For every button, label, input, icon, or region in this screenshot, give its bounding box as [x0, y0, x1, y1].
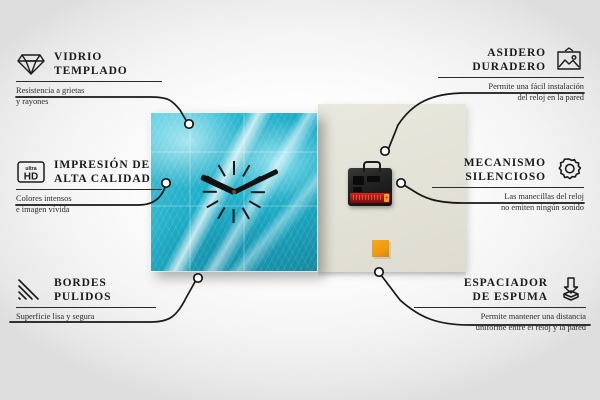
feature-title: BORDES PULIDOS — [54, 276, 111, 304]
feature-header: MECANISMO SILENCIOSO — [432, 156, 584, 184]
connector-dot-mecanismo — [397, 179, 405, 187]
feature-rule — [16, 189, 162, 190]
picture-frame-icon — [554, 47, 584, 73]
polished-edges-icon — [16, 277, 46, 303]
feature-espaciador-de-espuma: ESPACIADOR DE ESPUMA Permite mantener un… — [414, 276, 586, 333]
feature-description: Resistencia a grietas y rayones — [16, 86, 162, 107]
connector-dot-vidrio-templado — [185, 120, 193, 128]
feature-description: Las manecillas del reloj no emiten ningú… — [432, 192, 584, 213]
ultra-hd-icon-large-label: HD — [24, 172, 38, 183]
feature-rule — [432, 187, 584, 188]
ultra-hd-icon: ultra HD — [16, 159, 46, 185]
connector-dot-impresion — [162, 179, 170, 187]
feature-description: Colores intensos e imagen vívida — [16, 194, 162, 215]
infographic-canvas: + — [0, 0, 600, 400]
feature-title: MECANISMO SILENCIOSO — [464, 156, 546, 184]
feature-title: ASIDERO DURADERO — [472, 46, 546, 74]
feature-title: ESPACIADOR DE ESPUMA — [464, 276, 548, 304]
feature-rule — [16, 81, 162, 82]
feature-rule — [414, 307, 586, 308]
feature-bordes-pulidos: BORDES PULIDOS Superficie lisa y segura — [16, 276, 156, 323]
feature-description: Permite una fácil instalación del reloj … — [438, 82, 584, 103]
feature-header: VIDRIO TEMPLADO — [16, 50, 162, 78]
foam-spacer-icon — [556, 277, 586, 303]
feature-header: BORDES PULIDOS — [16, 276, 156, 304]
connector-dot-espaciador — [375, 268, 383, 276]
connector-dot-asidero — [381, 147, 389, 155]
feature-title: VIDRIO TEMPLADO — [54, 50, 128, 78]
feature-rule — [438, 77, 584, 78]
feature-impresion-alta-calidad: ultra HD IMPRESIÓN DE ALTA CALIDAD Color… — [16, 158, 162, 215]
feature-header: ASIDERO DURADERO — [438, 46, 584, 74]
feature-rule — [16, 307, 156, 308]
feature-asidero-duradero: ASIDERO DURADERO Permite una fácil insta… — [438, 46, 584, 103]
gear-icon — [554, 157, 584, 183]
feature-header: ESPACIADOR DE ESPUMA — [414, 276, 586, 304]
feature-vidrio-templado: VIDRIO TEMPLADO Resistencia a grietas y … — [16, 50, 162, 107]
feature-title: IMPRESIÓN DE ALTA CALIDAD — [54, 158, 151, 186]
diamond-icon — [16, 51, 46, 77]
feature-mecanismo-silencioso: MECANISMO SILENCIOSO Las manecillas del … — [432, 156, 584, 213]
connector-dot-bordes-pulidos — [194, 274, 202, 282]
feature-description: Superficie lisa y segura — [16, 312, 156, 323]
feature-description: Permite mantener una distancia uniforme … — [414, 312, 586, 333]
feature-header: ultra HD IMPRESIÓN DE ALTA CALIDAD — [16, 158, 162, 186]
